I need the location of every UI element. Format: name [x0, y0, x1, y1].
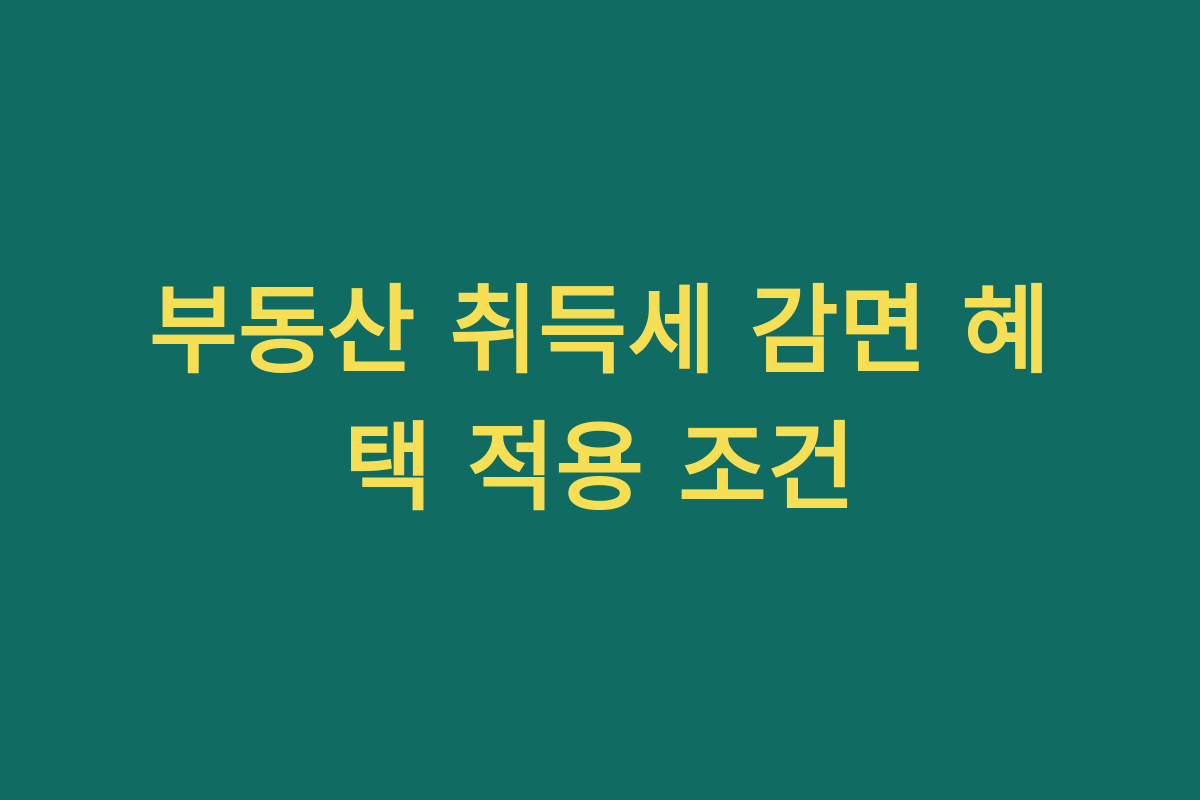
- page-title: 부동산 취득세 감면 혜 택 적용 조건: [120, 263, 1080, 538]
- page-title-line-2: 택 적용 조건: [120, 400, 1080, 537]
- page-title-line-1: 부동산 취득세 감면 혜: [120, 263, 1080, 400]
- title-banner: 부동산 취득세 감면 혜 택 적용 조건: [0, 0, 1200, 800]
